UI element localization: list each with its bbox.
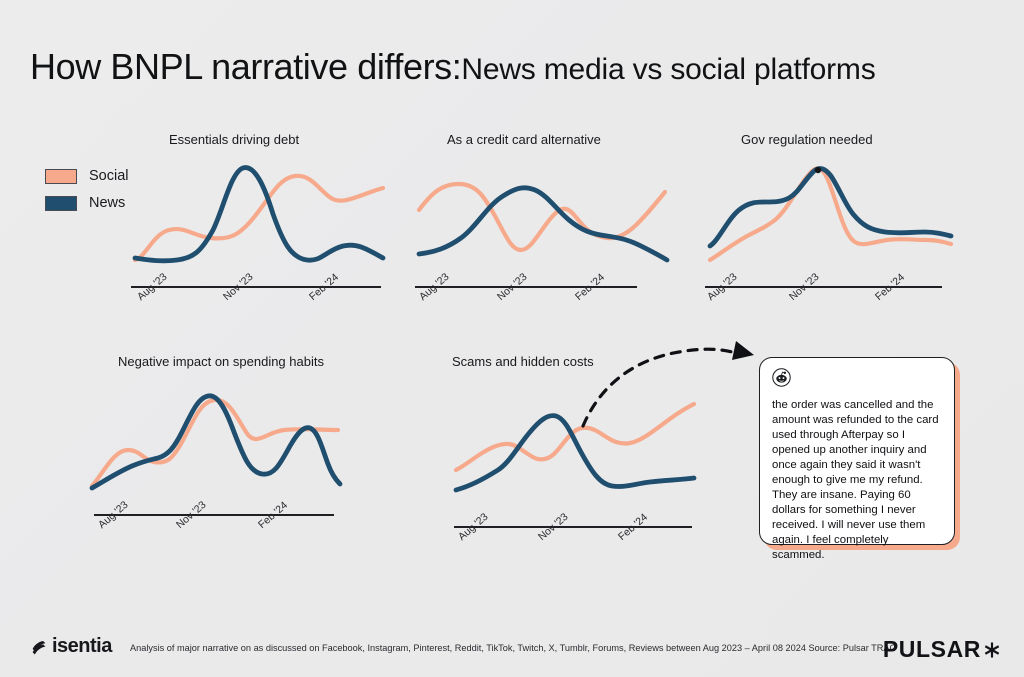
- page-title: How BNPL narrative differs: News media v…: [30, 46, 876, 88]
- callout-pointer-arrow: [575, 338, 765, 428]
- legend-item-news: News: [45, 195, 129, 211]
- chart-x-axis: [94, 514, 334, 516]
- chart-panel-gov-regulation-needed: Gov regulation needed Aug '23 Nov '23 Fe…: [705, 132, 955, 322]
- legend-swatch-social: [45, 169, 77, 184]
- series-line-news: [419, 188, 667, 260]
- chart-plot: [131, 154, 387, 280]
- page-title-main: How BNPL narrative differs:: [30, 46, 461, 88]
- callout-quote-text: the order was cancelled and the amount w…: [772, 398, 942, 564]
- isentia-logo: isentia: [30, 635, 112, 658]
- chart-panel-as-a-credit-card-alternative: As a credit card alternative Aug '23 Nov…: [415, 132, 671, 322]
- chart-plot: [88, 376, 348, 504]
- series-line-news: [92, 396, 340, 488]
- chart-x-axis: [131, 286, 381, 288]
- isentia-mark-icon: [30, 638, 48, 656]
- arrow-dashed-path: [583, 349, 739, 426]
- pulsar-logo: PULSAR: [883, 636, 1002, 663]
- peak-marker: [815, 167, 821, 173]
- footer-source-note: Analysis of major narrative on as discus…: [130, 643, 896, 653]
- legend-swatch-news: [45, 196, 77, 211]
- legend-label-news: News: [89, 195, 125, 211]
- chart-title: As a credit card alternative: [447, 132, 601, 147]
- series-line-social: [710, 169, 951, 260]
- chart-plot: [705, 154, 955, 280]
- callout-card: the order was cancelled and the amount w…: [759, 357, 955, 545]
- chart-panel-essentials-driving-debt: Essentials driving debt Aug '23 Nov '23 …: [131, 132, 387, 322]
- page-title-sub: News media vs social platforms: [461, 53, 875, 87]
- footer: isentia Analysis of major narrative on a…: [0, 621, 1024, 677]
- pulsar-asterisk-icon: [982, 640, 1002, 660]
- reddit-icon: [772, 368, 791, 387]
- chart-title: Scams and hidden costs: [452, 354, 594, 369]
- pulsar-logo-text: PULSAR: [883, 636, 981, 663]
- chart-legend: Social News: [45, 168, 129, 222]
- chart-x-axis: [415, 286, 637, 288]
- chart-plot: [415, 154, 671, 280]
- chart-title: Essentials driving debt: [169, 132, 299, 147]
- chart-title: Negative impact on spending habits: [118, 354, 324, 369]
- chart-panel-negative-impact-on-spending-habits: Negative impact on spending habits Aug '…: [88, 354, 348, 554]
- legend-label-social: Social: [89, 168, 129, 184]
- series-line-social: [92, 400, 338, 486]
- chart-x-axis: [705, 286, 942, 288]
- chart-title: Gov regulation needed: [741, 132, 873, 147]
- chart-x-axis: [454, 526, 692, 528]
- infographic-root: How BNPL narrative differs: News media v…: [0, 0, 1024, 677]
- legend-item-social: Social: [45, 168, 129, 184]
- isentia-logo-text: isentia: [52, 635, 112, 658]
- arrow-head: [732, 341, 754, 360]
